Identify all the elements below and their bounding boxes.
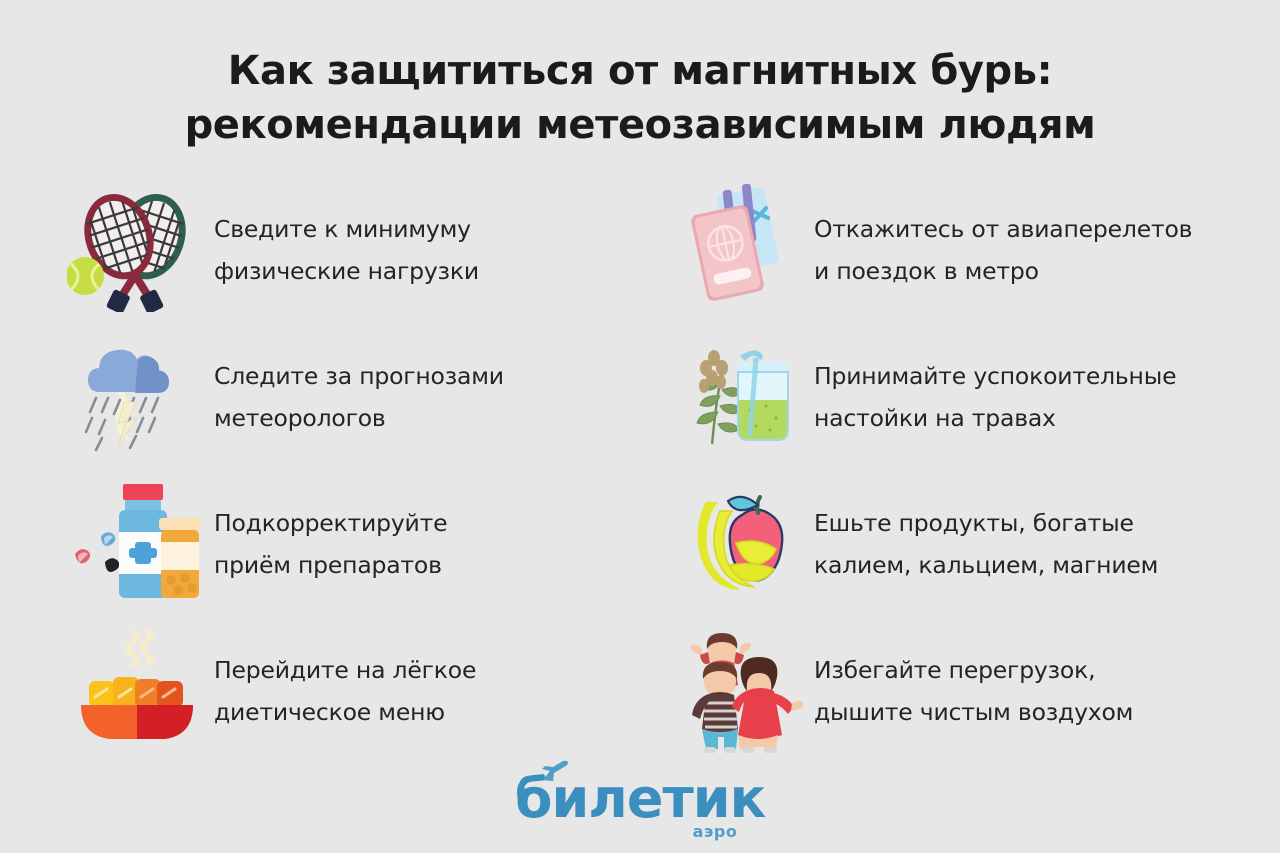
tip-line-2: приём препаратов [214,544,447,586]
tip-line-2: физические нагрузки [214,250,479,292]
tip-line-1: Перейдите на лёгкое [214,656,476,684]
title-line-1: Как защититься от магнитных бурь: [0,44,1280,98]
tip-text: Ешьте продукты, богатые калием, кальцием… [814,478,1158,586]
tip-line-1: Принимайте успокоительные [814,362,1176,390]
tip-text: Откажитесь от авиаперелетов и поездок в … [814,184,1192,292]
tip-item: Ешьте продукты, богатые калием, кальцием… [672,472,1272,619]
tip-line-2: дышите чистым воздухом [814,691,1133,733]
tennis-ball [67,257,104,295]
banana-apple-icon [672,478,812,608]
girl-red-dress [732,657,804,753]
passport-boarding-pass-icon [672,184,812,314]
tip-line-2: калием, кальцием, магнием [814,544,1158,586]
herbal-drink-jar-icon [672,331,812,461]
page-title: Как защититься от магнитных бурь: рекоме… [0,0,1280,152]
scattered-pills [75,532,119,572]
infographic-page: Как защититься от магнитных бурь: рекоме… [0,0,1280,853]
boy-striped-shirt [692,662,738,753]
tip-line-1: Сведите к минимуму [214,215,471,243]
tip-text: Следите за прогнозами метеорологов [214,331,504,439]
tip-text: Перейдите на лёгкое диетическое меню [214,625,476,733]
tip-text: Избегайте перегрузок, дышите чистым возд… [814,625,1133,733]
steam [125,629,154,667]
tips-grid: Сведите к минимуму физические нагрузки [0,178,1280,766]
tip-line-1: Подкорректируйте [214,509,447,537]
brand-logo[interactable]: билетик аэро [0,770,1280,841]
tip-line-1: Откажитесь от авиаперелетов [814,215,1192,243]
tip-line-2: настойки на травах [814,397,1176,439]
tip-text: Сведите к минимуму физические нагрузки [214,184,479,292]
family-children-icon [672,625,812,755]
tip-item: Сведите к минимуму физические нагрузки [62,178,662,325]
herb-sprig [697,350,742,444]
tip-item: Откажитесь от авиаперелетов и поездок в … [672,178,1272,325]
title-line-2: рекомендации метеозависимым людям [0,98,1280,152]
tip-text: Принимайте успокоительные настойки на тр… [814,331,1176,439]
orange-pill-bottle [159,518,201,598]
tip-item: Перейдите на лёгкое диетическое меню [62,619,662,766]
tip-line-1: Ешьте продукты, богатые [814,509,1134,537]
tip-line-2: диетическое меню [214,691,476,733]
tip-item: Следите за прогнозами метеорологов [62,325,662,472]
storm-cloud-rain-icon [62,331,212,461]
airplane-icon [541,760,571,782]
tip-line-1: Следите за прогнозами [214,362,504,390]
food-pieces [89,677,183,707]
tip-item: Принимайте успокоительные настойки на тр… [672,325,1272,472]
medicine-bottles-icon [62,478,212,608]
tip-item: Подкорректируйте приём препаратов [62,472,662,619]
tip-line-1: Избегайте перегрузок, [814,656,1095,684]
tip-line-2: и поездок в метро [814,250,1192,292]
logo-wordmark: билетик [515,770,766,828]
blue-medicine-bottle [119,484,167,598]
hot-food-bowl-icon [62,625,212,755]
tennis-rackets-icon [62,184,212,314]
tip-line-2: метеорологов [214,397,504,439]
tip-text: Подкорректируйте приём препаратов [214,478,447,586]
tip-item: Избегайте перегрузок, дышите чистым возд… [672,619,1272,766]
